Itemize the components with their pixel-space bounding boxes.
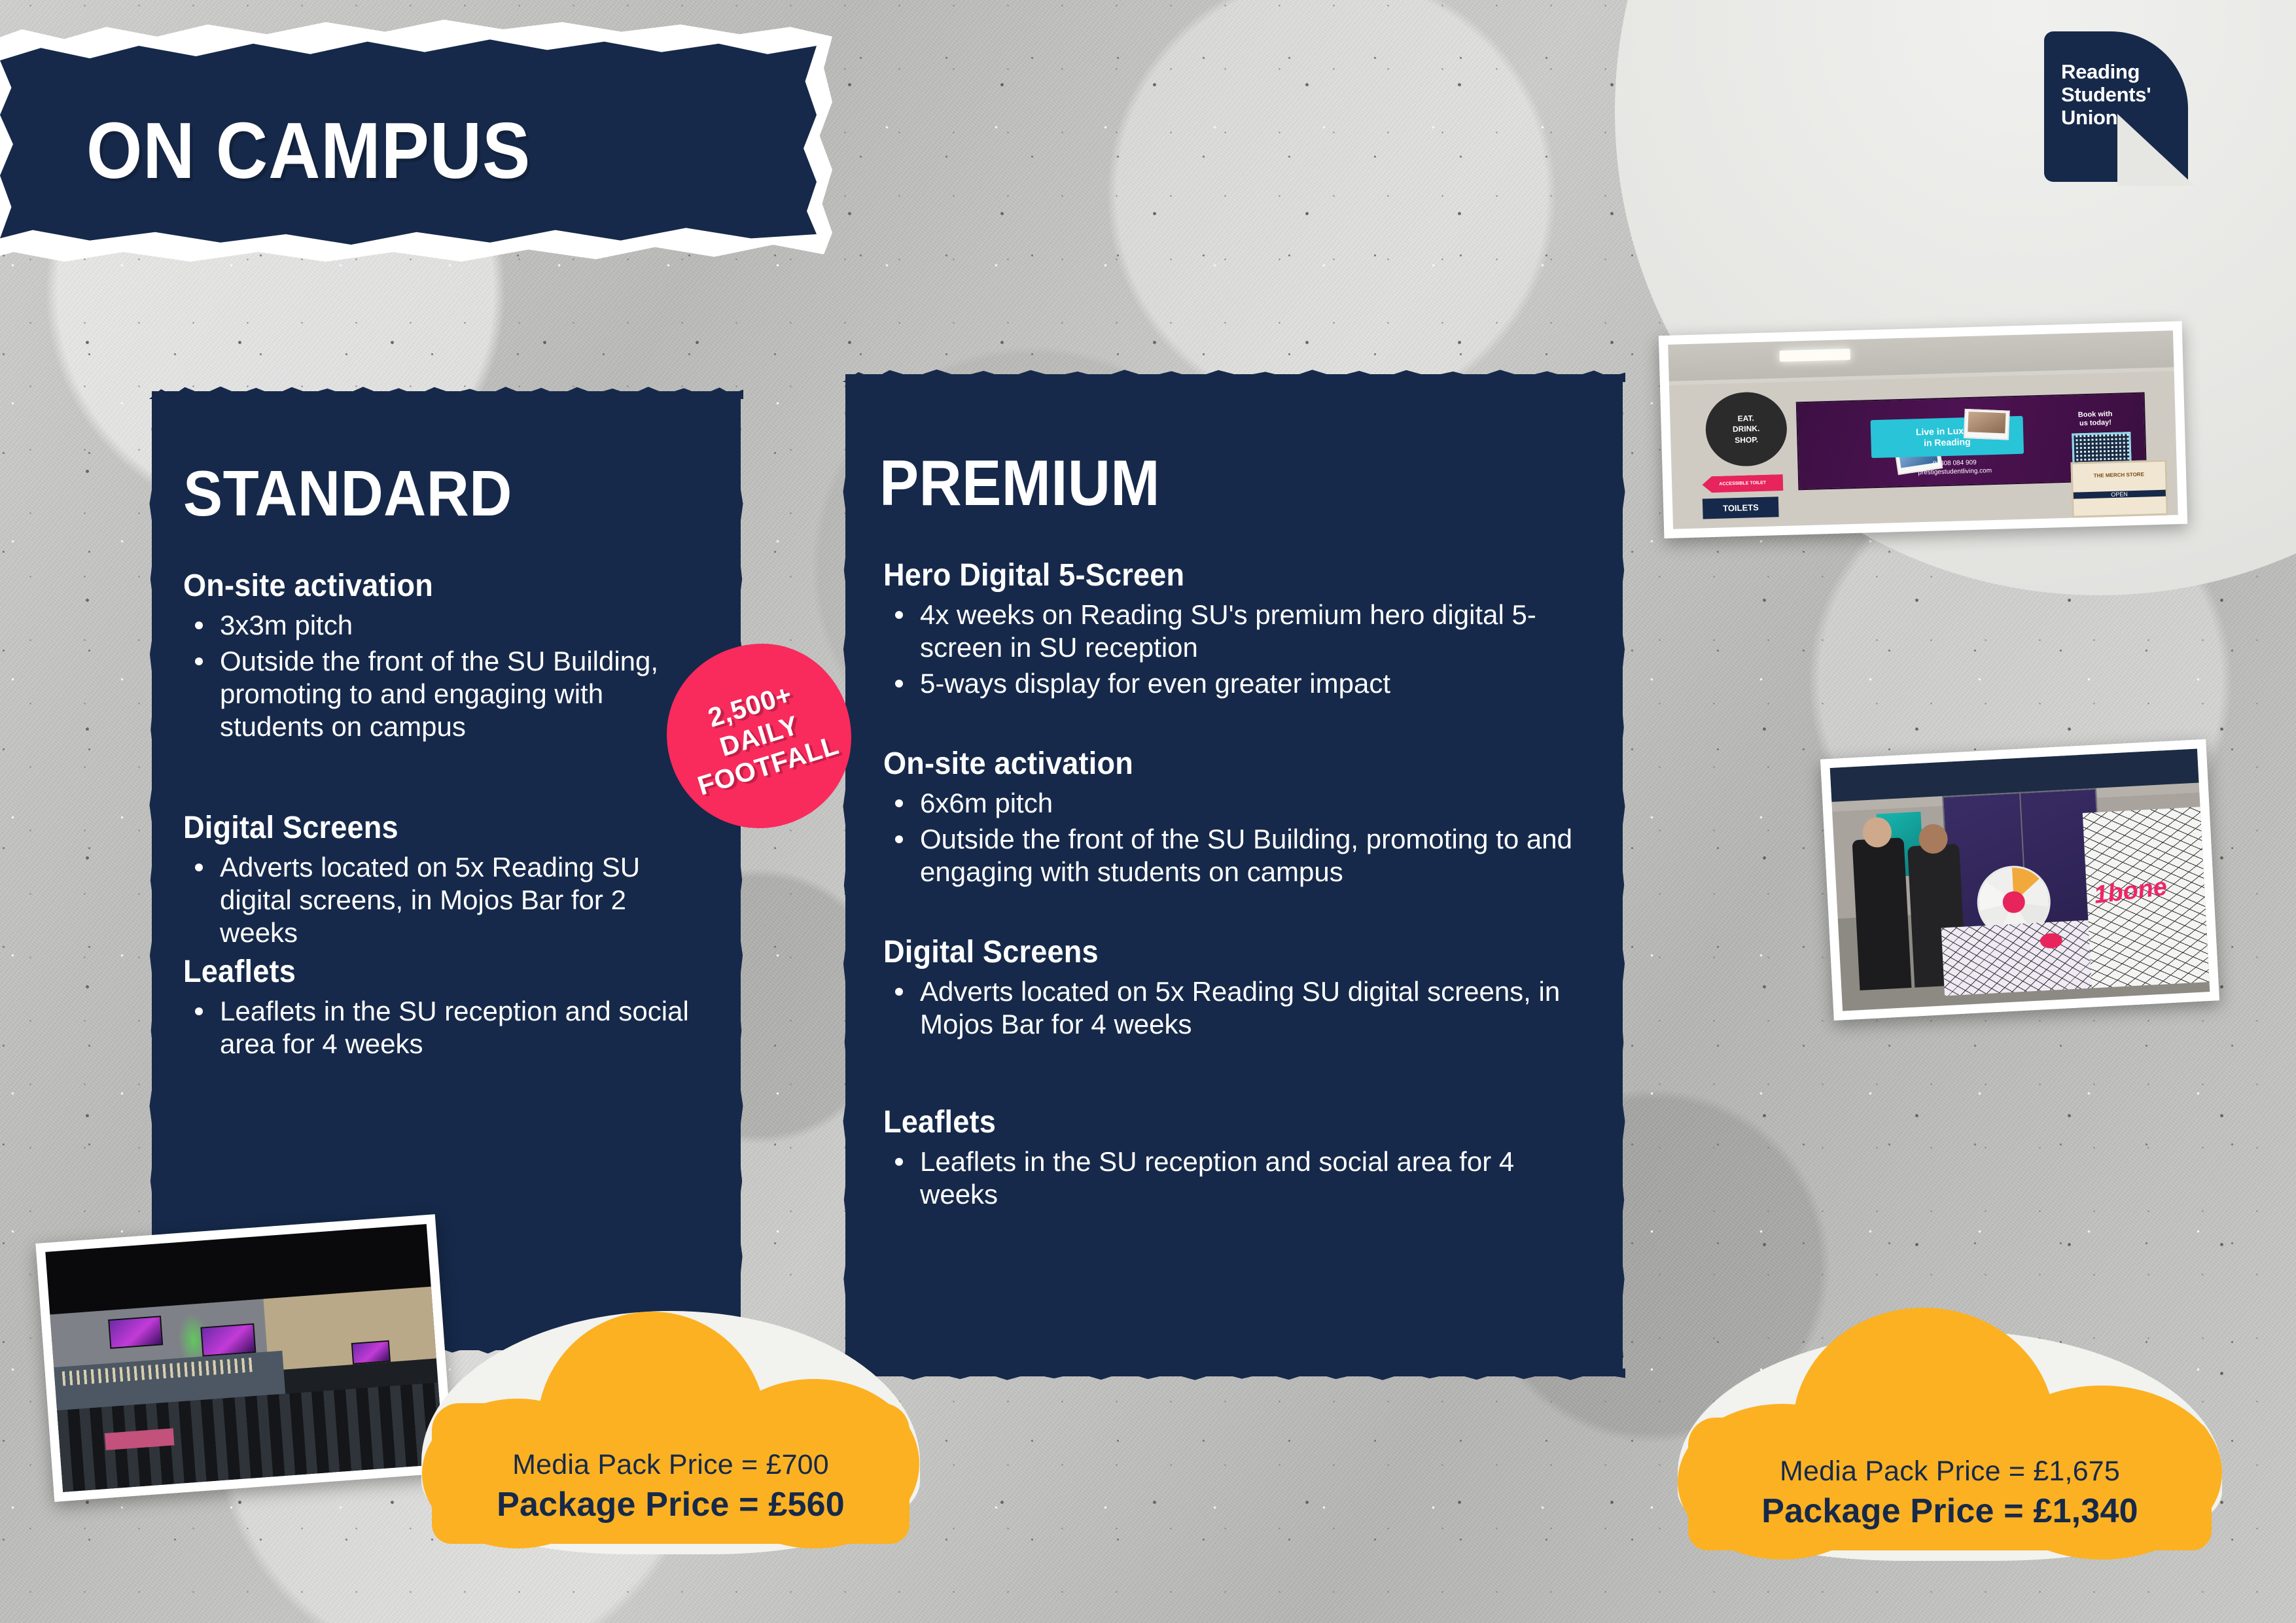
screen-ad-contact: 03308 084 909 prestigestudentliving.com bbox=[1875, 457, 2035, 481]
bullet-list: Adverts located on 5x Reading SU digital… bbox=[883, 975, 1597, 1041]
photo-ceiling-light bbox=[1779, 349, 1850, 362]
bullet-item: 5-ways display for even greater impact bbox=[883, 667, 1597, 700]
section-heading: Digital Screens bbox=[883, 934, 1554, 970]
tier-title-premium: PREMIUM bbox=[879, 446, 1160, 520]
bullet-item: Outside the front of the SU Building, pr… bbox=[183, 645, 711, 743]
package-price: Package Price = £1,340 bbox=[1688, 1492, 2212, 1531]
bar-digital-screen-1 bbox=[108, 1316, 164, 1349]
merch-store-title: THE MERCH STORE bbox=[2073, 471, 2165, 480]
section-leaflets-premium: Leaflets Leaflets in the SU reception an… bbox=[883, 1104, 1597, 1211]
card-content-standard: STANDARD On-site activation 3x3m pitch O… bbox=[152, 391, 741, 1350]
section-on-site-activation-standard: On-site activation 3x3m pitch Outside th… bbox=[183, 568, 711, 743]
bullet-item: 3x3m pitch bbox=[183, 609, 711, 642]
bullet-item: 6x6m pitch bbox=[883, 787, 1597, 820]
merch-store-board: THE MERCH STORE OPEN bbox=[2070, 460, 2168, 518]
media-pack-price: Media Pack Price = £700 bbox=[432, 1449, 910, 1481]
bullet-item: Adverts located on 5x Reading SU digital… bbox=[183, 851, 711, 949]
section-digital-screens-premium: Digital Screens Adverts located on 5x Re… bbox=[883, 934, 1597, 1041]
bullet-list: 6x6m pitch Outside the front of the SU B… bbox=[883, 787, 1597, 888]
price-text-block: Media Pack Price = £700 Package Price = … bbox=[432, 1449, 910, 1524]
media-pack-price: Media Pack Price = £1,675 bbox=[1688, 1456, 2212, 1488]
screen-polaroid-right bbox=[1964, 409, 2010, 440]
daily-footfall-badge: 2,500+ DAILY FOOTFALL bbox=[667, 644, 851, 828]
photo-bar-wall-lit bbox=[263, 1287, 436, 1371]
accessible-toilet-sign: ACCESSIBLE TOILET bbox=[1702, 474, 1783, 493]
section-leaflets-standard: Leaflets Leaflets in the SU reception an… bbox=[183, 954, 711, 1060]
toilets-sign: TOILETS bbox=[1703, 497, 1779, 519]
bullet-list: 3x3m pitch Outside the front of the SU B… bbox=[183, 609, 711, 743]
merch-store-status: OPEN bbox=[2074, 490, 2166, 499]
section-heading: Leaflets bbox=[883, 1104, 1554, 1140]
bullet-item: Outside the front of the SU Building, pr… bbox=[883, 823, 1597, 888]
bar-digital-screen-3 bbox=[351, 1340, 391, 1365]
photo-image: 1bone bbox=[1830, 749, 2210, 1011]
section-hero-digital-5-screen: Hero Digital 5-Screen 4x weeks on Readin… bbox=[883, 557, 1597, 700]
photo-ceiling bbox=[1668, 330, 2174, 381]
screen-ad-cta: Book with us today! bbox=[2057, 410, 2134, 430]
photo-su-reception-digital-screen: EAT. DRINK. SHOP. ACCESSIBLE TOILET TOIL… bbox=[1659, 321, 2187, 538]
photo-stall-table bbox=[1941, 919, 2114, 996]
poster-canvas: Reading Students' Union ON CAMPUS STANDA… bbox=[0, 0, 2296, 1623]
bullet-item: Adverts located on 5x Reading SU digital… bbox=[883, 975, 1597, 1041]
section-digital-screens-standard: Digital Screens Adverts located on 5x Re… bbox=[183, 810, 711, 949]
price-text-block: Media Pack Price = £1,675 Package Price … bbox=[1688, 1456, 2212, 1531]
bullet-item: 4x weeks on Reading SU's premium hero di… bbox=[883, 599, 1597, 664]
section-on-site-activation-premium: On-site activation 6x6m pitch Outside th… bbox=[883, 746, 1597, 888]
photo-mojos-bar bbox=[35, 1214, 453, 1502]
page-header-banner: ON CAMPUS bbox=[0, 20, 832, 262]
package-card-premium: PREMIUM Hero Digital 5-Screen 4x weeks o… bbox=[845, 374, 1623, 1376]
tier-title-standard: STANDARD bbox=[183, 457, 512, 531]
photo-person-left bbox=[1852, 837, 1912, 990]
page-title: ON CAMPUS bbox=[86, 105, 531, 196]
stall-banner-text: 1bone bbox=[2093, 873, 2168, 910]
section-heading: On-site activation bbox=[883, 746, 1554, 782]
card-content-premium: PREMIUM Hero Digital 5-Screen 4x weeks o… bbox=[845, 374, 1623, 1376]
logo-text: Reading Students' Union bbox=[2061, 60, 2151, 129]
price-banner-standard: Media Pack Price = £700 Package Price = … bbox=[432, 1302, 910, 1544]
bullet-item: Leaflets in the SU reception and social … bbox=[883, 1145, 1597, 1211]
section-heading: Leaflets bbox=[183, 954, 679, 990]
bullet-list: Leaflets in the SU reception and social … bbox=[183, 995, 711, 1060]
price-banner-premium: Media Pack Price = £1,675 Package Price … bbox=[1688, 1321, 2212, 1550]
section-heading: Hero Digital 5-Screen bbox=[883, 557, 1554, 593]
photo-image: EAT. DRINK. SHOP. ACCESSIBLE TOILET TOIL… bbox=[1668, 330, 2178, 529]
footfall-badge-text: 2,500+ DAILY FOOTFALL bbox=[676, 670, 843, 802]
bullet-list: Adverts located on 5x Reading SU digital… bbox=[183, 851, 711, 949]
bullet-list: 4x weeks on Reading SU's premium hero di… bbox=[883, 599, 1597, 700]
eat-drink-shop-sign: EAT. DRINK. SHOP. bbox=[1704, 391, 1788, 467]
reading-students-union-logo: Reading Students' Union bbox=[2044, 31, 2188, 182]
bullet-item: Leaflets in the SU reception and social … bbox=[183, 995, 711, 1060]
package-card-standard: STANDARD On-site activation 3x3m pitch O… bbox=[152, 391, 741, 1350]
section-heading: Digital Screens bbox=[183, 810, 679, 846]
bullet-list: Leaflets in the SU reception and social … bbox=[883, 1145, 1597, 1211]
bar-digital-screen-2 bbox=[200, 1323, 256, 1356]
photo-on-campus-activation-stall: 1bone bbox=[1820, 739, 2219, 1021]
photo-image bbox=[45, 1224, 444, 1492]
package-price: Package Price = £560 bbox=[432, 1485, 910, 1524]
photo-stall-banner: 1bone bbox=[2083, 807, 2210, 988]
section-heading: On-site activation bbox=[183, 568, 679, 604]
